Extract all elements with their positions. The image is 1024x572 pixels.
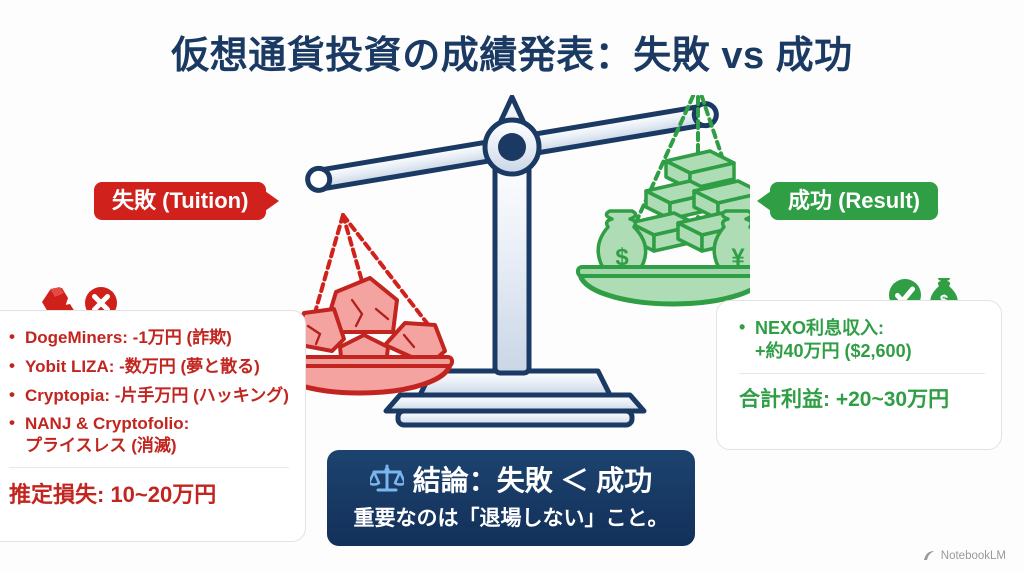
conclusion-subtext: 重要なのは「退場しない」こと。 <box>327 502 695 532</box>
failure-card-divider <box>9 467 289 468</box>
list-item: Yobit LIZA: -数万円 (夢と散る) <box>9 356 291 378</box>
failure-card: DogeMiners: -1万円 (詐欺) Yobit LIZA: -数万円 (… <box>0 310 306 542</box>
success-card: NEXO利息収入: +約40万円 ($2,600) 合計利益: +20~30万円 <box>716 300 1002 450</box>
conclusion-headline: 結論：失敗 ＜ 成功 <box>413 459 653 499</box>
success-card-divider <box>739 373 985 374</box>
estimated-loss-total: 推定損失: 10~20万円 <box>9 477 291 509</box>
badge-failure-label: 失敗 (Tuition) <box>112 188 248 213</box>
watermark-label: NotebookLM <box>941 550 1006 562</box>
total-profit: 合計利益: +20~30万円 <box>739 383 987 413</box>
list-item: Cryptopia: -片手万円 (ハッキング) <box>9 385 291 407</box>
watermark: NotebookLM <box>923 550 1006 562</box>
balance-scale-icon <box>370 464 404 494</box>
infographic-canvas: 仮想通貨投資の成績発表：失敗 vs 成功 失敗 (Tuition) 成功 (Re… <box>0 0 1024 572</box>
badge-success-label: 成功 (Result) <box>788 188 920 213</box>
conclusion-banner: 結論：失敗 ＜ 成功 重要なのは「退場しない」こと。 <box>327 450 695 546</box>
list-item: NANJ & Cryptofolio: プライスレス (消滅) <box>9 413 291 457</box>
list-item: DogeMiners: -1万円 (詐欺) <box>9 327 291 349</box>
badge-failure: 失敗 (Tuition) <box>94 182 266 220</box>
page-title: 仮想通貨投資の成績発表：失敗 vs 成功 <box>0 24 1024 79</box>
scale-column <box>495 153 529 373</box>
failure-list: DogeMiners: -1万円 (詐欺) Yobit LIZA: -数万円 (… <box>9 327 291 457</box>
balance-scale-illustration: $ ¥ <box>280 95 750 435</box>
conclusion-headline-row: 結論：失敗 ＜ 成功 <box>327 459 695 499</box>
red-rocks-icon <box>290 278 445 367</box>
scale-pivot <box>485 120 539 174</box>
list-item: NEXO利息収入: +約40万円 ($2,600) <box>739 317 987 363</box>
right-pan-rim <box>578 267 750 276</box>
badge-success: 成功 (Result) <box>770 182 938 220</box>
success-list: NEXO利息収入: +約40万円 ($2,600) <box>739 317 987 363</box>
notebooklm-logo-icon <box>923 550 936 562</box>
